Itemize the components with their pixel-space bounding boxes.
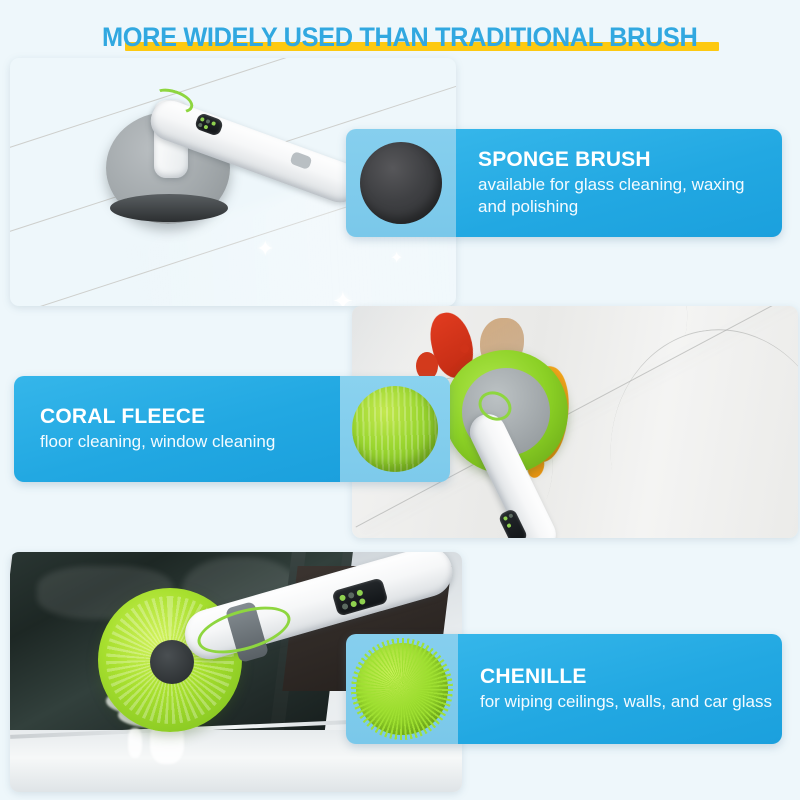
chenille-pad-icon	[356, 643, 448, 735]
coral-fleece-pad-panel	[340, 376, 450, 482]
display-led	[211, 121, 216, 126]
coral-fleece-pad-icon	[352, 386, 438, 472]
chenille-pad-panel	[346, 634, 458, 744]
callout-title: CORAL FLEECE	[40, 405, 326, 429]
callout-coral-fleece[interactable]: CORAL FLEECE floor cleaning, window clea…	[14, 376, 450, 482]
display-led	[350, 600, 357, 607]
callout-title: SPONGE BRUSH	[478, 148, 768, 172]
display-led	[341, 603, 348, 610]
product-feature-page: MORE WIDELY USED THAN TRADITIONAL BRUSH …	[0, 0, 800, 800]
callout-chenille[interactable]: CHENILLE for wiping ceilings, walls, and…	[346, 634, 782, 744]
callout-description: floor cleaning, window cleaning	[40, 431, 326, 453]
soap-drip	[128, 728, 142, 758]
callout-description: available for glass cleaning, waxing and…	[478, 174, 768, 218]
display-led	[203, 125, 208, 130]
red-sauce-droplet	[460, 344, 469, 353]
chenille-text-panel: CHENILLE for wiping ceilings, walls, and…	[458, 634, 782, 744]
chenille-fiber-texture	[351, 638, 453, 740]
callout-title: CHENILLE	[480, 665, 768, 689]
display-led	[347, 592, 354, 599]
sparkle-icon: ✦	[332, 288, 354, 306]
sponge-pad-icon	[360, 142, 442, 224]
sponge-text-panel: SPONGE BRUSH available for glass cleanin…	[456, 129, 782, 237]
sponge-pad-panel	[346, 129, 456, 237]
callout-sponge-brush[interactable]: SPONGE BRUSH available for glass cleanin…	[346, 129, 782, 237]
callout-description-line1: for wiping ceilings, walls, and car glas…	[480, 691, 782, 713]
scrubber-sponge-edge	[110, 194, 228, 222]
title-inner: MORE WIDELY USED THAN TRADITIONAL BRUSH	[73, 22, 726, 53]
display-led	[205, 119, 210, 124]
display-led	[198, 122, 203, 127]
callout-description: for wiping ceilings, walls, and car glas…	[480, 691, 768, 713]
display-led	[200, 117, 205, 122]
coral-fleece-text-panel: CORAL FLEECE floor cleaning, window clea…	[14, 376, 340, 482]
display-led	[508, 513, 513, 518]
page-title: MORE WIDELY USED THAN TRADITIONAL BRUSH	[0, 22, 800, 53]
sparkle-icon: ✦	[256, 238, 274, 260]
sparkle-icon: ✦	[390, 251, 403, 267]
display-led	[339, 594, 346, 601]
display-led	[359, 598, 366, 605]
display-led	[503, 516, 508, 521]
page-title-text: MORE WIDELY USED THAN TRADITIONAL BRUSH	[102, 22, 697, 53]
display-led	[356, 589, 363, 596]
display-led	[506, 523, 511, 528]
